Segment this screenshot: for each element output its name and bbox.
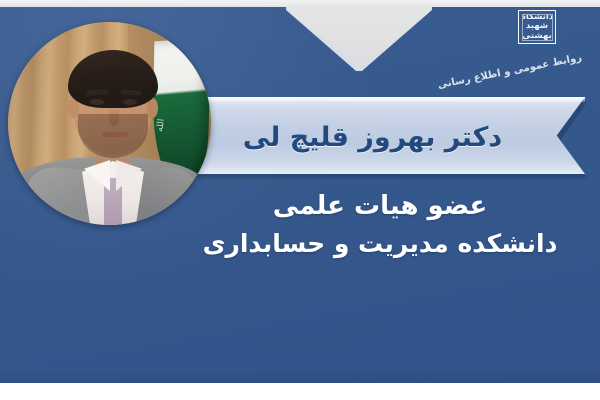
logo-line-3: بهشتی <box>522 32 552 41</box>
person-role: عضو هیات علمی <box>180 188 580 226</box>
person-name: دکتر بهروز قلیچ لی <box>200 108 545 166</box>
mouth <box>102 132 128 137</box>
subtitle-block: عضو هیات علمی دانشکده مدیریت و حسابداری <box>180 188 580 262</box>
eye-right <box>123 99 137 105</box>
profile-card: دکتر بهروز قلیچ لی عضو هیات علمی دانشکده… <box>0 0 600 400</box>
logo-inner-frame: دانشگاه شهید بهشتی <box>522 14 553 41</box>
flag-emblem-text: الله <box>155 89 201 134</box>
bottom-white-band <box>0 383 600 400</box>
eye-left <box>90 99 104 105</box>
portrait-photo: الله <box>8 22 211 225</box>
person-affiliation: دانشکده مدیریت و حسابداری <box>180 226 580 262</box>
university-logo-block: دانشگاه شهید بهشتی روابط عمومی و اطلاع ر… <box>470 8 590 88</box>
avatar: الله <box>8 22 211 225</box>
shahid-beheshti-university-logo-icon: دانشگاه شهید بهشتی <box>518 10 556 44</box>
